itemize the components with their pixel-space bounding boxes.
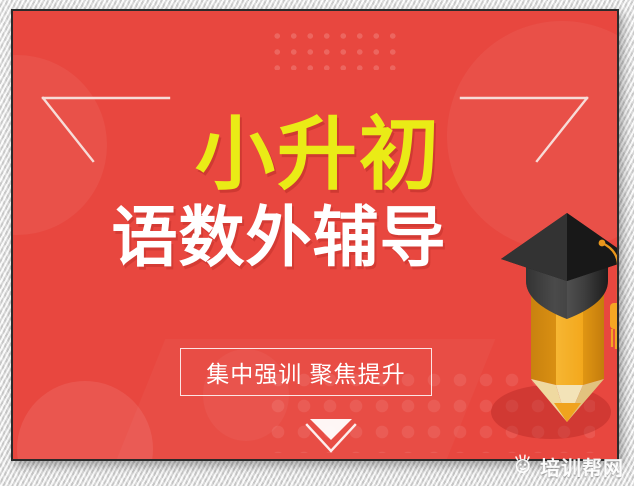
poster-title-main: 小升初 (13, 115, 617, 195)
tagline-text: 集中强训 聚焦提升 (206, 355, 405, 389)
tagline-box: 集中强训 聚焦提升 (180, 348, 432, 396)
watermark-text: 培训帮网 (540, 452, 624, 481)
chevron-down-icon (300, 415, 362, 457)
pencil-with-graduation-cap-icon (496, 207, 617, 435)
dot-grid-top-icon (269, 28, 399, 70)
poster-canvas: 小升初 语数外辅导 集中强训 聚焦提升 (13, 11, 617, 459)
smiley-sun-face-icon (512, 453, 534, 480)
watermark: 培训帮网 (508, 450, 630, 483)
poster-screenshot: 小升初 语数外辅导 集中强训 聚焦提升 (0, 0, 634, 486)
promo-poster: 小升初 语数外辅导 集中强训 聚焦提升 (11, 9, 619, 461)
